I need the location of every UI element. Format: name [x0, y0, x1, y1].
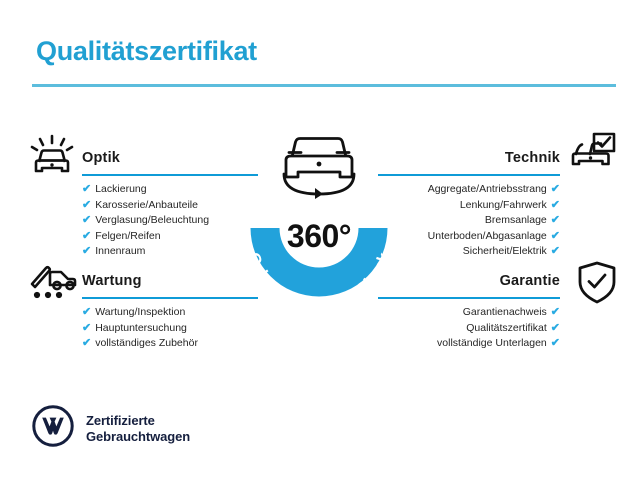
list-item-label: vollständige Unterlagen — [437, 336, 547, 352]
section-title-garantie: Garantie — [500, 273, 560, 289]
list-item-label: Wartung/Inspektion — [95, 305, 185, 321]
check-icon: ✔ — [82, 338, 91, 349]
badge-degrees: 360° — [224, 218, 414, 255]
vw-logo — [32, 405, 74, 452]
list-item-label: Innenraum — [95, 244, 145, 260]
list-item: Aggregate/Antriebsstrang✔ — [428, 182, 560, 198]
list-item-label: Qualitätszertifikat — [466, 321, 547, 337]
checklist-technik: Aggregate/Antriebsstrang✔ Lenkung/Fahrwe… — [428, 182, 560, 260]
vw-footer-text: Zertifizierte Gebrauchtwagen — [86, 413, 190, 445]
vw-footer-line2: Gebrauchtwagen — [86, 429, 190, 445]
checklist-garantie: Garantienachweis✔ Qualitätszertifikat✔ v… — [437, 305, 560, 352]
list-item: Garantienachweis✔ — [437, 305, 560, 321]
check-icon: ✔ — [82, 323, 91, 334]
list-item: Unterboden/Abgasanlage✔ — [428, 229, 560, 245]
check-icon: ✔ — [82, 246, 91, 257]
list-item-label: Lenkung/Fahrwerk — [460, 198, 547, 214]
list-item: ✔Wartung/Inspektion — [82, 305, 198, 321]
check-icon: ✔ — [551, 323, 560, 334]
list-item-label: Unterboden/Abgasanlage — [428, 229, 547, 245]
check-icon: ✔ — [82, 231, 91, 242]
list-item: Qualitätszertifikat✔ — [437, 321, 560, 337]
list-item-label: Aggregate/Antriebsstrang — [428, 182, 547, 198]
check-icon: ✔ — [82, 200, 91, 211]
list-item: vollständige Unterlagen✔ — [437, 336, 560, 352]
certificate-page: Qualitätszertifikat Optik ✔Lackierung ✔K — [0, 0, 640, 480]
checklist-optik: ✔Lackierung ✔Karosserie/Anbauteile ✔Verg… — [82, 182, 209, 260]
list-item: Bremsanlage✔ — [428, 213, 560, 229]
shield-check-icon — [576, 261, 618, 310]
checklist-wartung: ✔Wartung/Inspektion ✔Hauptuntersuchung ✔… — [82, 305, 198, 352]
page-title: Qualitätszertifikat — [36, 36, 257, 67]
list-item: Lenkung/Fahrwerk✔ — [428, 198, 560, 214]
list-item-label: Hauptuntersuchung — [95, 321, 187, 337]
badge-360-check: Gebrauchtwagen-Check 360° — [224, 122, 414, 322]
check-icon: ✔ — [551, 307, 560, 318]
list-item: ✔Innenraum — [82, 244, 209, 260]
car-wrench-icon — [28, 259, 78, 306]
list-item: ✔Verglasung/Beleuchtung — [82, 213, 209, 229]
list-item: ✔Karosserie/Anbauteile — [82, 198, 209, 214]
check-icon: ✔ — [551, 200, 560, 211]
list-item-label: Sicherheit/Elektrik — [463, 244, 547, 260]
list-item: Sicherheit/Elektrik✔ — [428, 244, 560, 260]
check-icon: ✔ — [551, 231, 560, 242]
check-icon: ✔ — [551, 338, 560, 349]
car-shine-icon — [28, 134, 76, 183]
vw-footer: Zertifizierte Gebrauchtwagen — [32, 405, 190, 452]
section-title-optik: Optik — [82, 150, 120, 166]
check-icon: ✔ — [82, 307, 91, 318]
vw-footer-line1: Zertifizierte — [86, 413, 190, 429]
list-item-label: Verglasung/Beleuchtung — [95, 213, 209, 229]
section-title-technik: Technik — [505, 150, 560, 166]
list-item-label: Garantienachweis — [463, 305, 547, 321]
list-item-label: Felgen/Reifen — [95, 229, 160, 245]
list-item-label: Bremsanlage — [485, 213, 547, 229]
list-item-label: Karosserie/Anbauteile — [95, 198, 198, 214]
check-icon: ✔ — [551, 246, 560, 257]
list-item: ✔Lackierung — [82, 182, 209, 198]
check-icon: ✔ — [82, 215, 91, 226]
section-title-wartung: Wartung — [82, 273, 142, 289]
list-item: ✔Felgen/Reifen — [82, 229, 209, 245]
list-item: ✔vollständiges Zubehör — [82, 336, 198, 352]
check-icon: ✔ — [551, 184, 560, 195]
check-icon: ✔ — [551, 215, 560, 226]
list-item-label: vollständiges Zubehör — [95, 336, 198, 352]
list-item: ✔Hauptuntersuchung — [82, 321, 198, 337]
list-item-label: Lackierung — [95, 182, 146, 198]
car-checkbox-icon — [568, 132, 618, 181]
check-icon: ✔ — [82, 184, 91, 195]
title-divider — [32, 84, 616, 87]
